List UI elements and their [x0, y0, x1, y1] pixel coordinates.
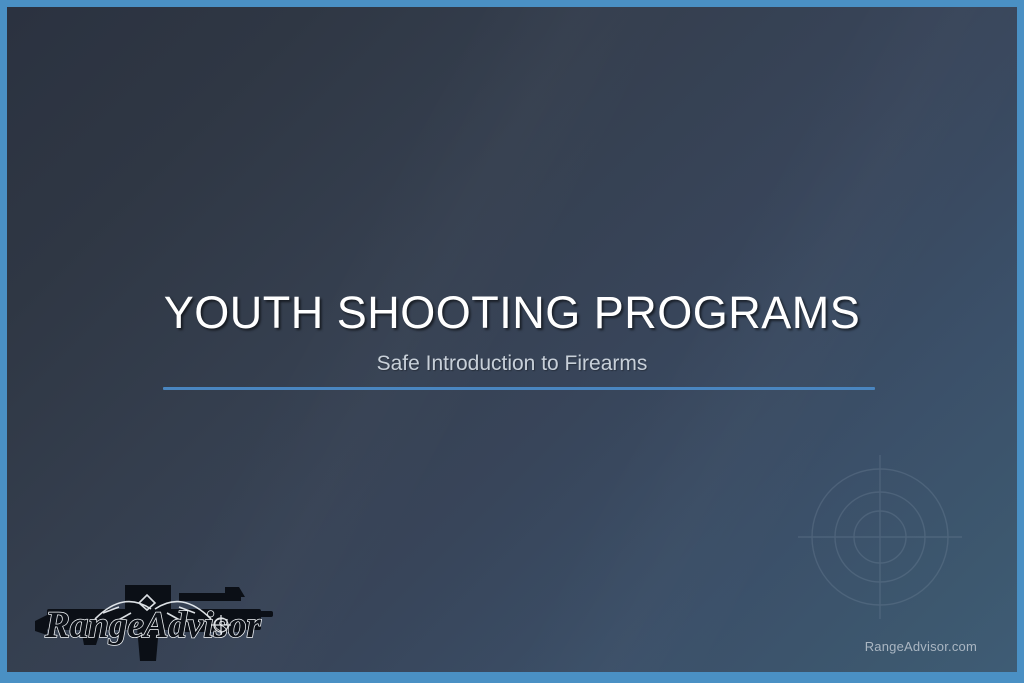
page-title: YOUTH SHOOTING PROGRAMS — [156, 289, 868, 337]
title-block: YOUTH SHOOTING PROGRAMS Safe Introductio… — [156, 289, 868, 376]
target-crosshair-watermark — [789, 447, 971, 629]
page-subtitle: Safe Introduction to Firearms — [156, 351, 868, 376]
slide-frame: YOUTH SHOOTING PROGRAMS Safe Introductio… — [0, 0, 1024, 683]
brand-logo[interactable]: RangeAdvisor — [29, 575, 277, 667]
footer-url: RangeAdvisor.com — [865, 639, 977, 654]
slide-canvas: YOUTH SHOOTING PROGRAMS Safe Introductio… — [7, 7, 1017, 672]
title-accent-rule — [163, 387, 875, 390]
